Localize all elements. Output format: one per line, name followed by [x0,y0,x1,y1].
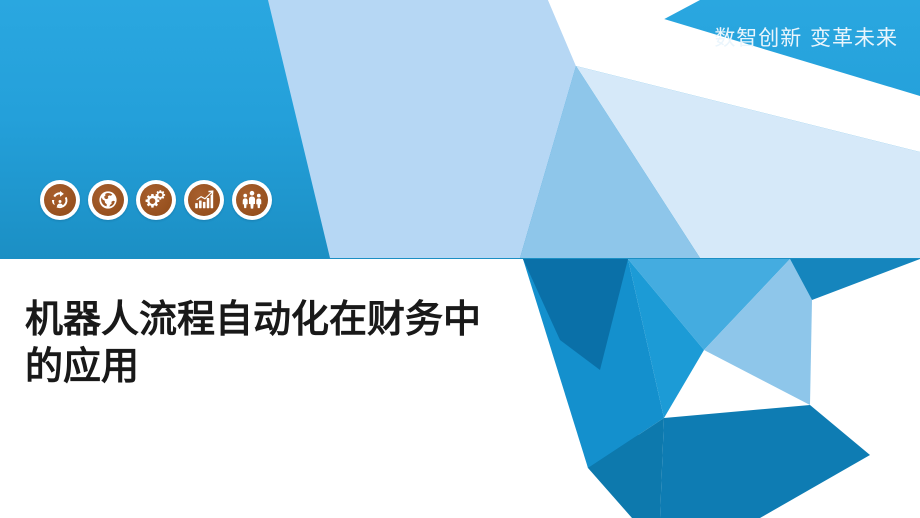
recycle-refresh-icon-disc [44,184,76,216]
globe-icon-disc [92,184,124,216]
bar-chart-growth-icon-disc [188,184,220,216]
recycle-refresh-icon[interactable] [40,180,80,220]
title-slide: 数智创新 变革未来 [0,0,920,518]
bar-chart-growth-icon[interactable] [184,180,224,220]
icon-row [40,180,272,220]
page-title-line-2: 的应用 [25,343,565,390]
gears-icon[interactable] [136,180,176,220]
polygon-artwork [0,0,920,518]
tagline: 数智创新 变革未来 [714,26,898,51]
people-group-icon[interactable] [232,180,272,220]
page-title: 机器人流程自动化在财务中 的应用 [25,296,565,390]
poly-tail [660,405,870,518]
gears-icon-disc [140,184,172,216]
page-title-line-1: 机器人流程自动化在财务中 [25,296,565,343]
people-group-icon-disc [236,184,268,216]
globe-icon[interactable] [88,180,128,220]
